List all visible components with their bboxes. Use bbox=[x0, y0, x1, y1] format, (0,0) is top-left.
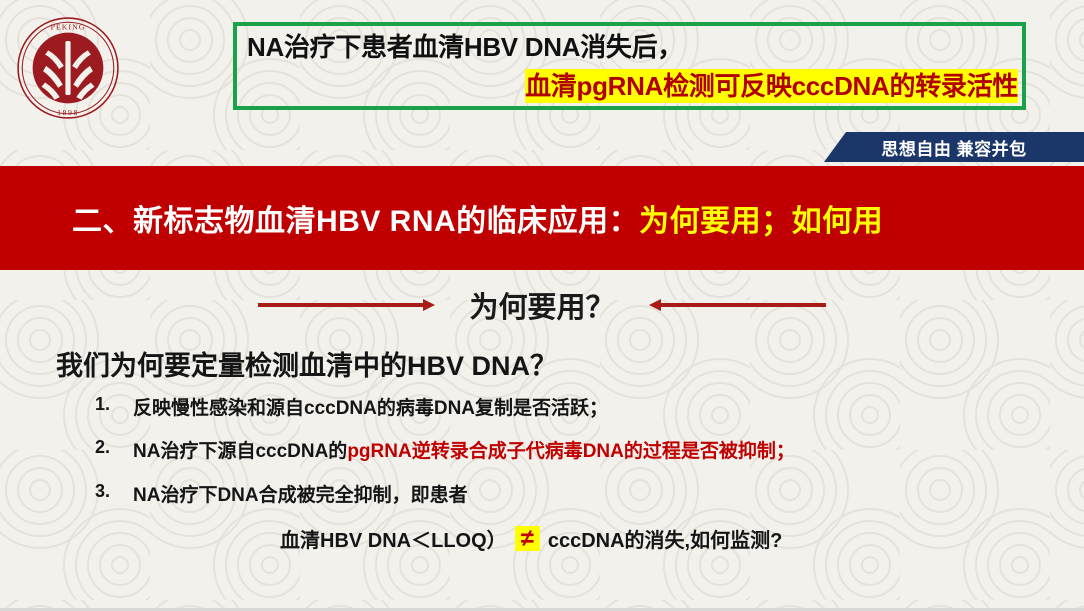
slide-root: PEKING 1898 NA治疗下患者血清HBV DNA消失后， 血清pgRNA… bbox=[0, 0, 1084, 611]
header-callout-line2-wrapper: 血清pgRNA检测可反映cccDNA的转录活性 bbox=[525, 66, 1018, 103]
list-item-number: 2. bbox=[95, 437, 133, 458]
list-item-text: NA治疗下源自cccDNA的pgRNA逆转录合成子代病毒DNA的过程是否被抑制； bbox=[133, 437, 795, 466]
list-item-segment: NA治疗下源自cccDNA的 bbox=[133, 441, 347, 462]
section-title-main: 二、新标志物血清HBV RNA的临床应用： bbox=[72, 205, 639, 238]
body-question-heading: 我们为何要定量检测血清中的HBV DNA？ bbox=[56, 344, 557, 383]
slide-header: PEKING 1898 NA治疗下患者血清HBV DNA消失后， 血清pgRNA… bbox=[0, 0, 1084, 166]
section-title-emphasis: 为何要用；如何用 bbox=[639, 205, 883, 238]
university-motto-banner: 思想自由 兼容并包 bbox=[824, 132, 1084, 162]
not-equal-icon: ≠ bbox=[515, 526, 540, 551]
item3-before-text: 血清HBV DNA＜LLOQ） bbox=[280, 524, 507, 553]
header-callout-box: NA治疗下患者血清HBV DNA消失后， 血清pgRNA检测可反映cccDNA的… bbox=[233, 22, 1026, 110]
list-item: 2. NA治疗下源自cccDNA的pgRNA逆转录合成子代病毒DNA的过程是否被… bbox=[95, 437, 1055, 466]
list-item-segment-emphasis: pgRNA逆转录合成子代病毒DNA的过程是否被抑制； bbox=[347, 441, 795, 462]
list-item-3-continuation: 血清HBV DNA＜LLOQ） ≠ cccDNA的消失,如何监测? bbox=[280, 524, 1055, 553]
divider-arrow-right-icon bbox=[661, 303, 826, 307]
section-title-text: 二、新标志物血清HBV RNA的临床应用：为何要用；如何用 bbox=[72, 196, 883, 240]
motto-text: 思想自由 兼容并包 bbox=[881, 135, 1026, 160]
list-item-segment: 反映慢性感染和源自cccDNA的病毒DNA复制是否活跃； bbox=[133, 398, 608, 419]
list-item: 1. 反映慢性感染和源自cccDNA的病毒DNA复制是否活跃； bbox=[95, 394, 1055, 423]
svg-text:PEKING: PEKING bbox=[51, 23, 86, 32]
list-item-number: 3. bbox=[95, 481, 133, 502]
header-callout-line2-highlighted: 血清pgRNA检测可反映cccDNA的转录活性 bbox=[525, 69, 1018, 103]
list-item-text: 反映慢性感染和源自cccDNA的病毒DNA复制是否活跃； bbox=[133, 394, 608, 423]
list-item-number: 1. bbox=[95, 394, 133, 415]
list-item-text: NA治疗下DNA合成被完全抑制，即患者 bbox=[133, 481, 468, 510]
list-item: 3. NA治疗下DNA合成被完全抑制，即患者 bbox=[95, 481, 1055, 510]
header-callout-line1: NA治疗下患者血清HBV DNA消失后， bbox=[247, 27, 683, 64]
divider-label: 为何要用？ bbox=[469, 284, 614, 326]
svg-text:1898: 1898 bbox=[57, 108, 79, 117]
numbered-bullet-list: 1. 反映慢性感染和源自cccDNA的病毒DNA复制是否活跃； 2. NA治疗下… bbox=[95, 394, 1055, 553]
section-divider: 为何要用？ bbox=[0, 283, 1084, 327]
peking-university-logo-icon: PEKING 1898 bbox=[16, 16, 120, 120]
divider-arrow-left-icon bbox=[258, 303, 423, 307]
list-item-segment: NA治疗下DNA合成被完全抑制，即患者 bbox=[133, 485, 468, 506]
section-title-bar: 二、新标志物血清HBV RNA的临床应用：为何要用；如何用 bbox=[0, 166, 1084, 270]
item3-after-text: cccDNA的消失,如何监测? bbox=[548, 524, 782, 553]
